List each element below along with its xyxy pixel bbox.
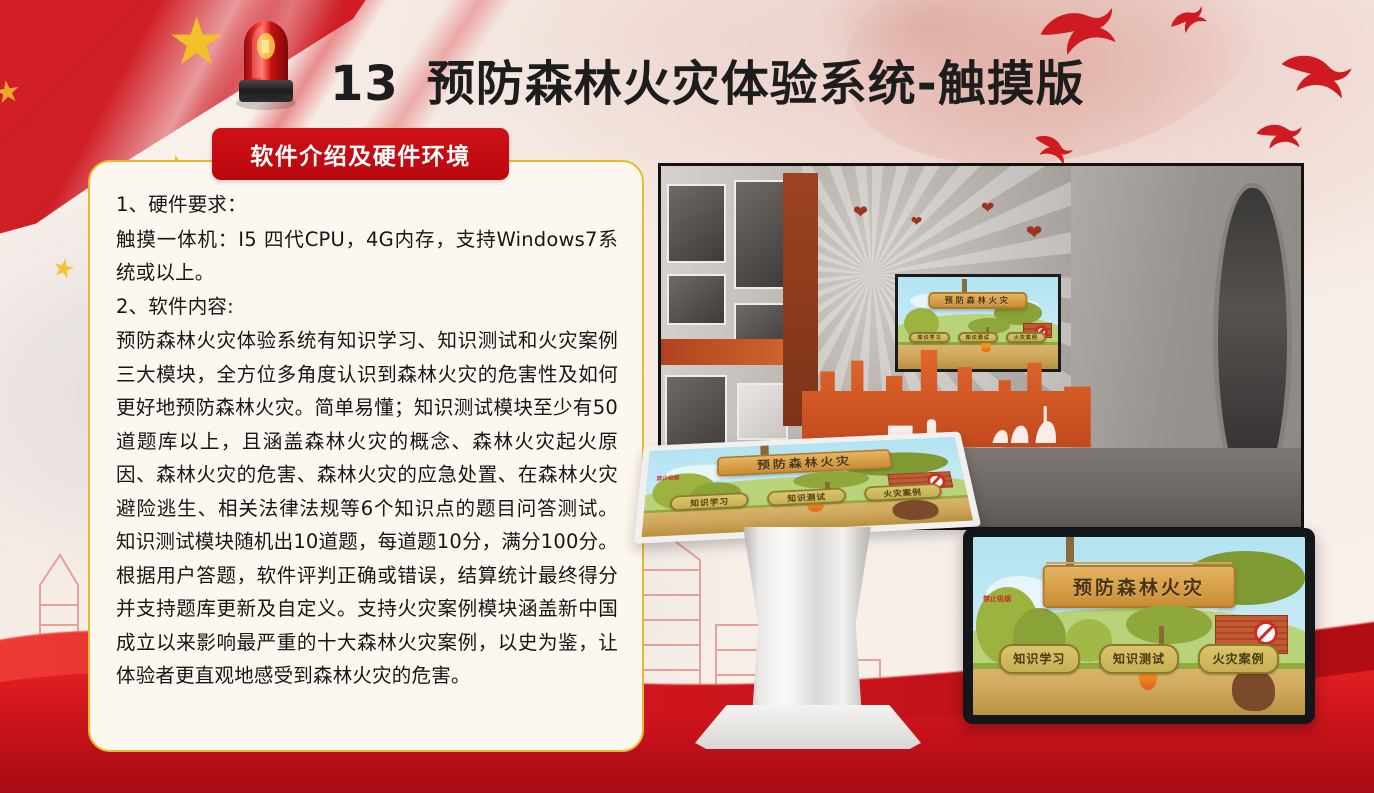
page-title-text: 预防森林火灾体验系统-触摸版 — [427, 56, 1085, 112]
page-number: 13 — [330, 56, 399, 112]
page-title: 13预防森林火灾体验系统-触摸版 — [330, 44, 1085, 114]
no-fire-sign-icon — [1254, 621, 1278, 645]
slide-stage: ★ ★ ★ ★ — [0, 0, 1374, 793]
app-screen-artwork: 预防森林火灾 禁止吸烟 知识学习 知识测试 火灾案例 — [642, 437, 974, 537]
app-button-fire-cases[interactable]: 火灾案例 — [1198, 644, 1279, 674]
hardware-requirements-text: 触摸一体机：I5 四代CPU，4G内存，支持Windows7系统或以上。 — [116, 223, 618, 290]
hardware-heading: 1、硬件要求： — [116, 188, 618, 222]
kiosk-stand — [731, 527, 883, 713]
app-banner-title: 预防森林火灾 — [757, 453, 853, 473]
app-screen-artwork: 预防森林火灾 禁止吸烟 知识学习 知识测试 火灾案例 — [973, 537, 1305, 715]
kiosk-screen[interactable]: 预防森林火灾 禁止吸烟 知识学习 知识测试 火灾案例 — [634, 432, 981, 544]
kiosk-base — [695, 705, 921, 749]
tablet-device-inset: 预防森林火灾 禁止吸烟 知识学习 知识测试 火灾案例 — [963, 528, 1315, 724]
alarm-beacon-icon — [230, 16, 302, 114]
slide-header: 13预防森林火灾体验系统-触摸版 — [0, 0, 1374, 135]
deer-decoration — [1232, 669, 1275, 712]
section-tag: 软件介绍及硬件环境 — [212, 128, 509, 180]
touch-kiosk: 预防森林火灾 禁止吸烟 知识学习 知识测试 火灾案例 — [635, 417, 999, 777]
deer-decoration — [891, 499, 940, 521]
app-banner-title: 预防森林火灾 — [945, 295, 1011, 306]
app-banner-title: 预防森林火灾 — [1073, 573, 1205, 600]
software-heading: 2、软件内容: — [116, 290, 618, 324]
screen-watermark: 禁止吸烟 — [983, 594, 1011, 604]
software-content-text: 预防森林火灾体验系统有知识学习、知识测试和火灾案例三大模块，全方位多角度认识到森… — [116, 324, 618, 693]
tablet-screen[interactable]: 预防森林火灾 禁止吸烟 知识学习 知识测试 火灾案例 — [973, 537, 1305, 715]
screen-watermark: 禁止吸烟 — [656, 474, 679, 482]
app-button-knowledge-test[interactable]: 知识测试 — [1099, 644, 1180, 674]
content-panel: 1、硬件要求： 触摸一体机：I5 四代CPU，4G内存，支持Windows7系统… — [88, 160, 644, 752]
app-button-knowledge-study[interactable]: 知识学习 — [999, 644, 1080, 674]
